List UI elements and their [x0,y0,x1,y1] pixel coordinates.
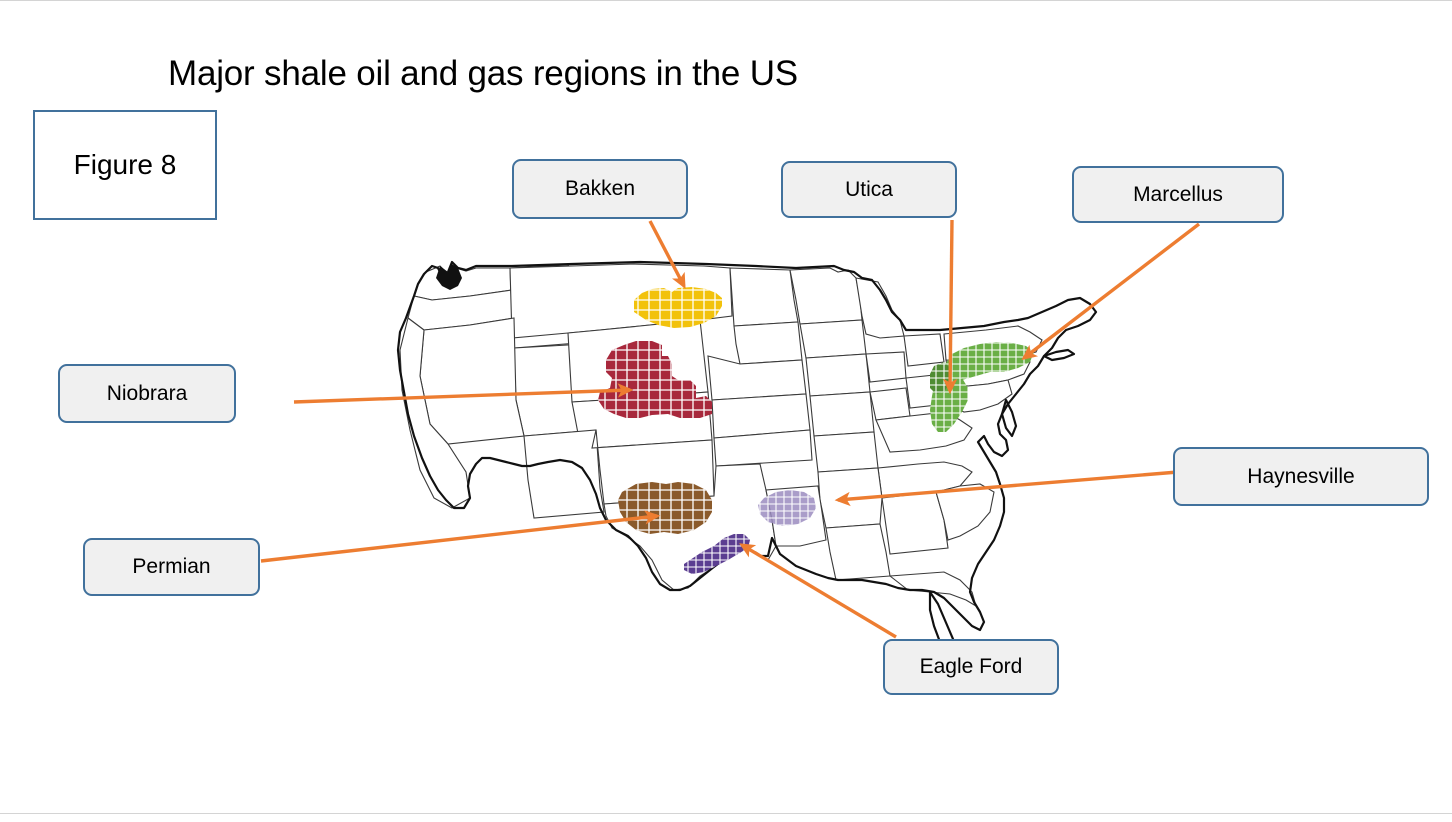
callout-haynesville-label: Haynesville [1247,465,1354,489]
callout-eagle-ford[interactable]: Eagle Ford [883,639,1059,695]
callout-eagle-ford-label: Eagle Ford [920,655,1023,679]
callout-marcellus-label: Marcellus [1133,183,1223,207]
callout-bakken-label: Bakken [565,177,635,201]
callout-niobrara-label: Niobrara [107,382,188,406]
callout-niobrara[interactable]: Niobrara [58,364,236,423]
callout-permian[interactable]: Permian [83,538,260,596]
callout-bakken[interactable]: Bakken [512,159,688,219]
callout-marcellus[interactable]: Marcellus [1072,166,1284,223]
callout-permian-label: Permian [132,555,210,579]
callout-utica-label: Utica [845,178,893,202]
callout-haynesville[interactable]: Haynesville [1173,447,1429,506]
slide-canvas: Major shale oil and gas regions in the U… [0,0,1452,822]
callout-utica[interactable]: Utica [781,161,957,218]
